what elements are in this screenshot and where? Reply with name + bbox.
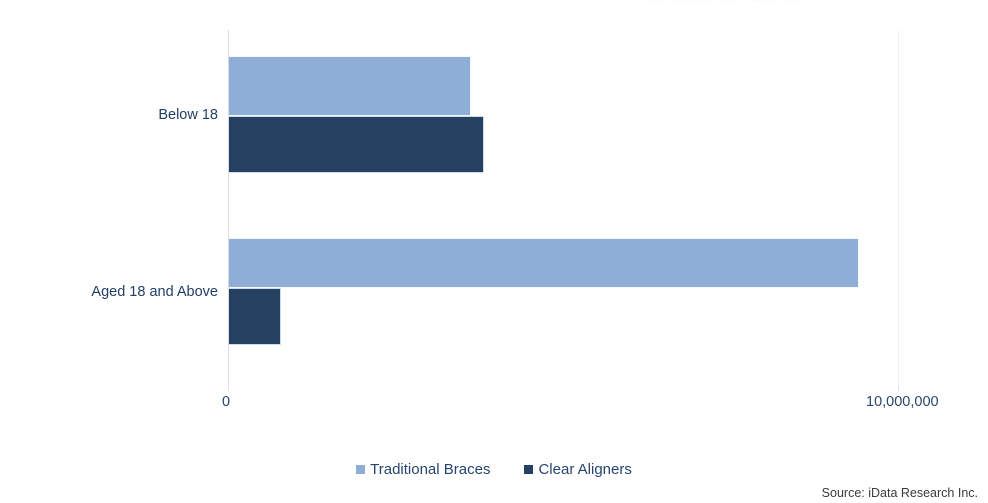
chart-title-clipped: Orthodontic Patients [560, 0, 890, 7]
legend-item-traditional-braces[interactable]: Traditional Braces [356, 461, 490, 478]
square-swatch-icon-clear-aligners [524, 465, 533, 474]
x-axis-tick-label-0: 0 [222, 394, 230, 410]
chart-container: Orthodontic Patients Below 18 Aged 18 an… [0, 0, 988, 503]
source-note: Source: iData Research Inc. [822, 486, 978, 500]
y-axis-category-label-aged-18-and-above: Aged 18 and Above [0, 284, 218, 300]
legend-item-clear-aligners[interactable]: Clear Aligners [524, 461, 631, 478]
legend-label-traditional-braces: Traditional Braces [370, 461, 490, 478]
plot-area [228, 30, 899, 385]
square-swatch-icon-traditional-braces [356, 465, 365, 474]
bar-below-18-clear-aligners[interactable] [229, 116, 484, 173]
x-axis-tick-10000000 [898, 385, 899, 391]
bar-aged-18-and-above-traditional-braces[interactable] [229, 238, 859, 288]
gridline-10000000 [898, 30, 899, 385]
y-axis-category-label-below-18: Below 18 [0, 107, 218, 123]
x-axis-tick-0 [228, 385, 229, 391]
bar-below-18-traditional-braces[interactable] [229, 56, 471, 116]
bar-aged-18-and-above-clear-aligners[interactable] [229, 288, 281, 345]
x-axis-tick-label-10000000: 10,000,000 [866, 394, 939, 410]
chart-legend: Traditional Braces Clear Aligners [0, 461, 988, 478]
legend-label-clear-aligners: Clear Aligners [538, 461, 631, 478]
